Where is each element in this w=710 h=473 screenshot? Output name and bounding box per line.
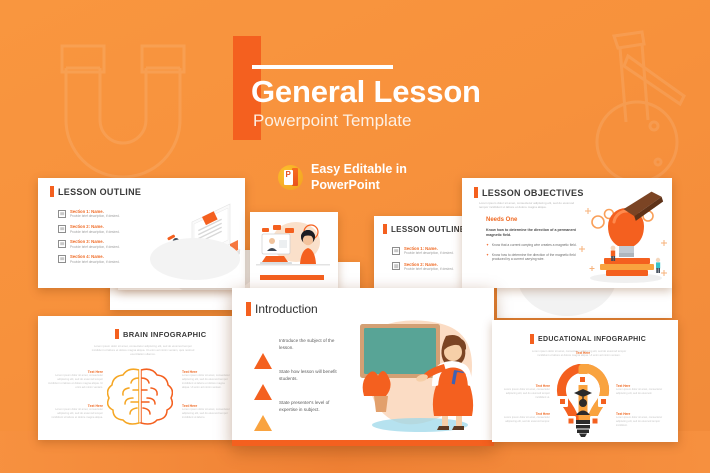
edu-callout: Text Here Lorem ipsum dolor sit amet, co… [616, 384, 672, 396]
item-desc: Provide brief description, if desired. [70, 245, 120, 249]
edu-callout: Text Here Lorem ipsum dolor sit amet, co… [498, 412, 550, 424]
outline-item[interactable]: Section 1: Name. Provide brief descripti… [392, 246, 462, 256]
page-subtitle: Powerpoint Template [253, 112, 411, 129]
slide-brain-infographic[interactable]: BRAIN INFOGRAPHIC Lorem ipsum dolor sit … [38, 316, 237, 440]
callout-desc: Lorem ipsum dolor sit amet, consectetur … [498, 416, 550, 424]
edu-callout: Text Here Lorem ipsum dolor sit amet, co… [498, 384, 550, 400]
intro-step[interactable]: 01 Introduce the subject of the lesson. [254, 336, 344, 354]
outline-item[interactable]: Section 2: Name. Provide brief descripti… [58, 224, 142, 234]
intro-step[interactable]: 02 State how lesson will benefit student… [254, 367, 344, 385]
slide-educational-infographic[interactable]: EDUCATIONAL INFOGRAPHIC Lorem ipsum dolo… [492, 320, 678, 442]
item-desc: Provide brief description, if desired. [404, 267, 454, 271]
slide-lesson-outline-1[interactable]: LESSON OUTLINE Section 1: Name. Provide … [38, 178, 245, 288]
slide3-title: LESSON OUTLINE [391, 225, 465, 234]
hero-title-block: General Lesson Powerpoint Template [233, 36, 533, 140]
editable-badge: Easy Editable in PowerPoint [278, 161, 407, 193]
item-desc: Provide brief description, if desired. [404, 251, 454, 255]
objective-bullet-0: Know that a current carrying wire create… [492, 243, 577, 248]
step-text: State how lesson will benefit students. [279, 367, 344, 383]
teacher-chalkboard-illustration [354, 312, 486, 436]
callout-desc: Lorem ipsum dolor sit amet, consectetur … [182, 374, 232, 390]
step-triangle-01: 01 [254, 336, 272, 354]
step-text: Introduce the subject of the lesson. [279, 336, 344, 352]
outline-item[interactable]: Section 1: Name. Provide brief descripti… [58, 209, 142, 219]
callout-desc: Lorem ipsum dolor sit amet, consectetur … [498, 388, 550, 400]
checkbox-icon[interactable] [58, 210, 66, 218]
slide4-subtitle: Lorem ipsum dolor sit amet, consectetur … [479, 201, 583, 210]
slide-introduction[interactable]: Introduction 01 Introduce the subject of… [232, 288, 494, 446]
brain-callout: Text Here Lorem ipsum dolor sit amet, co… [48, 370, 103, 390]
checkbox-icon[interactable] [58, 225, 66, 233]
callout-desc: Lorem ipsum dolor sit amet, consectetur … [182, 408, 232, 420]
item-desc: Provide brief description, if desired. [70, 260, 120, 264]
video-slide-bar [260, 275, 324, 280]
slide-lesson-objectives[interactable]: LESSON OBJECTIVES Lorem ipsum dolor sit … [462, 178, 672, 288]
checkbox-icon[interactable] [58, 240, 66, 248]
slide-video-call[interactable] [250, 212, 338, 290]
bullet-icon: ✦ [486, 253, 489, 258]
slide4-title: LESSON OBJECTIVES [482, 188, 584, 198]
item-desc: Provide brief description, if desired. [70, 214, 120, 218]
callout-desc: Lorem ipsum dolor sit amet, consectetur … [48, 408, 103, 420]
objectives-lead: Know how to determine the direction of a… [486, 228, 578, 238]
callout-label: Text Here [554, 351, 612, 355]
flask-watermark [592, 22, 692, 182]
outline-item[interactable]: Section 3: Name. Provide brief descripti… [58, 239, 142, 249]
brain-callout: Text Here Lorem ipsum dolor sit amet, co… [182, 404, 232, 420]
badge-text: Easy Editable in PowerPoint [311, 161, 407, 193]
step-triangle-03: 03 [254, 398, 272, 416]
checkbox-icon[interactable] [392, 247, 400, 255]
slide7-title: EDUCATIONAL INFOGRAPHIC [538, 336, 646, 343]
bullet-icon: ✦ [486, 243, 489, 248]
step-text: State presenter's level of expertise in … [279, 398, 344, 414]
badge-line2: PowerPoint [311, 177, 407, 193]
slide1-title: LESSON OUTLINE [58, 187, 141, 197]
badge-line1: Easy Editable in [311, 161, 407, 177]
slide6-title: Introduction [255, 302, 318, 316]
magnet-watermark [28, 24, 218, 199]
callout-desc: Lorem ipsum dolor sit amet, consectetur … [616, 388, 672, 396]
slide-lesson-outline-2[interactable]: LESSON OUTLINE Section 1: Name. Provide … [374, 216, 466, 290]
callout-desc: Lorem ipsum dolor sit amet, consectetur … [48, 374, 103, 390]
intro-footer-bar [232, 440, 494, 446]
brain-callout: Text Here Lorem ipsum dolor sit amet, co… [48, 404, 103, 420]
step-triangle-02: 02 [254, 367, 272, 385]
powerpoint-icon [278, 165, 303, 190]
poster-canvas: General Lesson Powerpoint Template Easy … [0, 0, 710, 473]
edu-callout-top: Text Here [554, 351, 612, 355]
outline-item[interactable]: Section 4: Name. Provide brief descripti… [58, 254, 142, 264]
slide5-subtitle: Lorem ipsum dolor sit amet, consectetur … [88, 344, 198, 357]
checkbox-icon[interactable] [58, 255, 66, 263]
isometric-laptop-illustration [146, 200, 242, 285]
step-number: 03 [254, 410, 272, 415]
lightbulb-graduate-illustration [552, 364, 614, 438]
needs-title: Needs One [486, 217, 578, 223]
brain-outline-illustration [107, 364, 173, 426]
video-conference-illustration [254, 220, 334, 270]
objective-bullet-1: Know how to determine the direction of t… [492, 253, 578, 263]
brain-callout: Text Here Lorem ipsum dolor sit amet, co… [182, 370, 232, 390]
step-number: 01 [254, 348, 272, 353]
callout-desc: Lorem ipsum dolor sit amet, consectetur … [616, 416, 672, 428]
intro-step[interactable]: 03 State presenter's level of expertise … [254, 398, 344, 416]
hero-rule [252, 65, 393, 69]
outline-item[interactable]: Section 2: Name. Provide brief descripti… [392, 262, 462, 272]
lightbulb-books-illustration [578, 190, 670, 286]
slide5-title: BRAIN INFOGRAPHIC [123, 330, 206, 339]
step-number: 02 [254, 379, 272, 384]
page-title: General Lesson [251, 76, 481, 107]
item-desc: Provide brief description, if desired. [70, 230, 120, 234]
checkbox-icon[interactable] [392, 262, 400, 270]
edu-callout: Text Here Lorem ipsum dolor sit amet, co… [616, 412, 672, 428]
